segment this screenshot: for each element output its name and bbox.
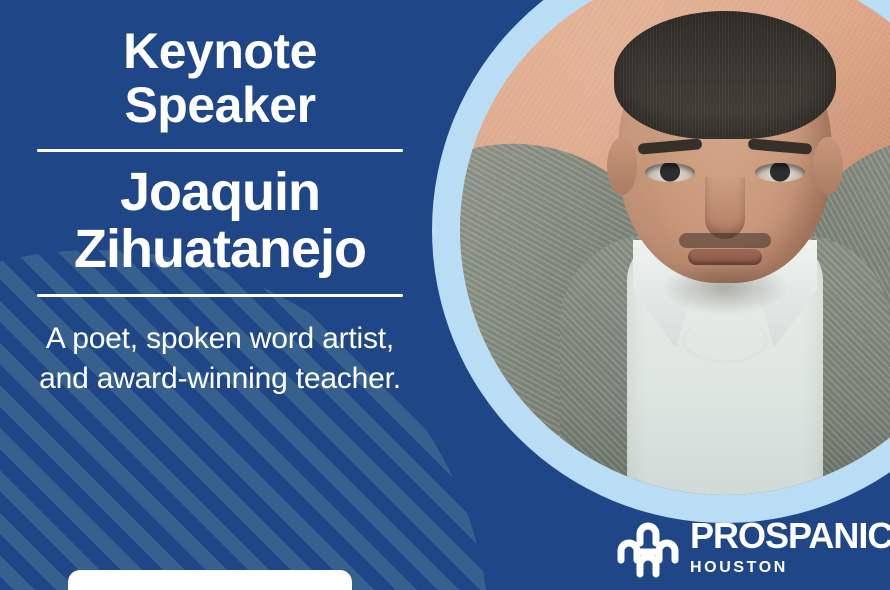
speaker-blurb: A poet, spoken word artist, and award-wi… bbox=[24, 319, 416, 399]
speaker-last-name: Zihuatanejo bbox=[24, 221, 416, 278]
speaker-photo-ring bbox=[432, 0, 890, 523]
prospanica-name-text: PROSPANICA bbox=[690, 515, 890, 556]
photo-eye-right bbox=[755, 163, 805, 182]
speaker-first-name: Joaquin bbox=[24, 164, 416, 221]
divider-top bbox=[37, 149, 403, 152]
photo-eyebrow-right bbox=[748, 138, 813, 155]
photo-hair bbox=[614, 11, 836, 139]
kicker-line-1: Keynote bbox=[24, 24, 416, 78]
prospanica-name: PROSPANICA® bbox=[690, 518, 890, 554]
photo-nose bbox=[705, 177, 745, 239]
photo-eyebrow-left bbox=[638, 138, 703, 155]
photo-necklace bbox=[682, 317, 768, 363]
photo-head bbox=[618, 17, 832, 283]
prospanica-wordmark: PROSPANICA® HOUSTON bbox=[690, 518, 890, 576]
prospanica-logo: PROSPANICA® HOUSTON bbox=[616, 516, 890, 578]
bottom-white-panel bbox=[68, 570, 352, 590]
prospanica-chapter: HOUSTON bbox=[690, 560, 890, 576]
prospanica-people-mark-icon bbox=[616, 516, 680, 578]
divider-bottom bbox=[37, 294, 403, 297]
photo-chin-shadow bbox=[661, 261, 789, 315]
speaker-name: Joaquin Zihuatanejo bbox=[24, 164, 416, 278]
kicker-line-2: Speaker bbox=[24, 78, 416, 132]
page-title: Keynote Speaker bbox=[24, 24, 416, 132]
speaker-text-column: Keynote Speaker Joaquin Zihuatanejo A po… bbox=[0, 0, 440, 590]
keynote-speaker-promo-card: Keynote Speaker Joaquin Zihuatanejo A po… bbox=[0, 0, 890, 590]
photo-eye-left bbox=[645, 163, 695, 182]
photo-moustache bbox=[679, 233, 771, 248]
photo-ear-left bbox=[607, 137, 637, 195]
speaker-photo bbox=[460, 0, 890, 495]
photo-ear-right bbox=[813, 137, 843, 195]
